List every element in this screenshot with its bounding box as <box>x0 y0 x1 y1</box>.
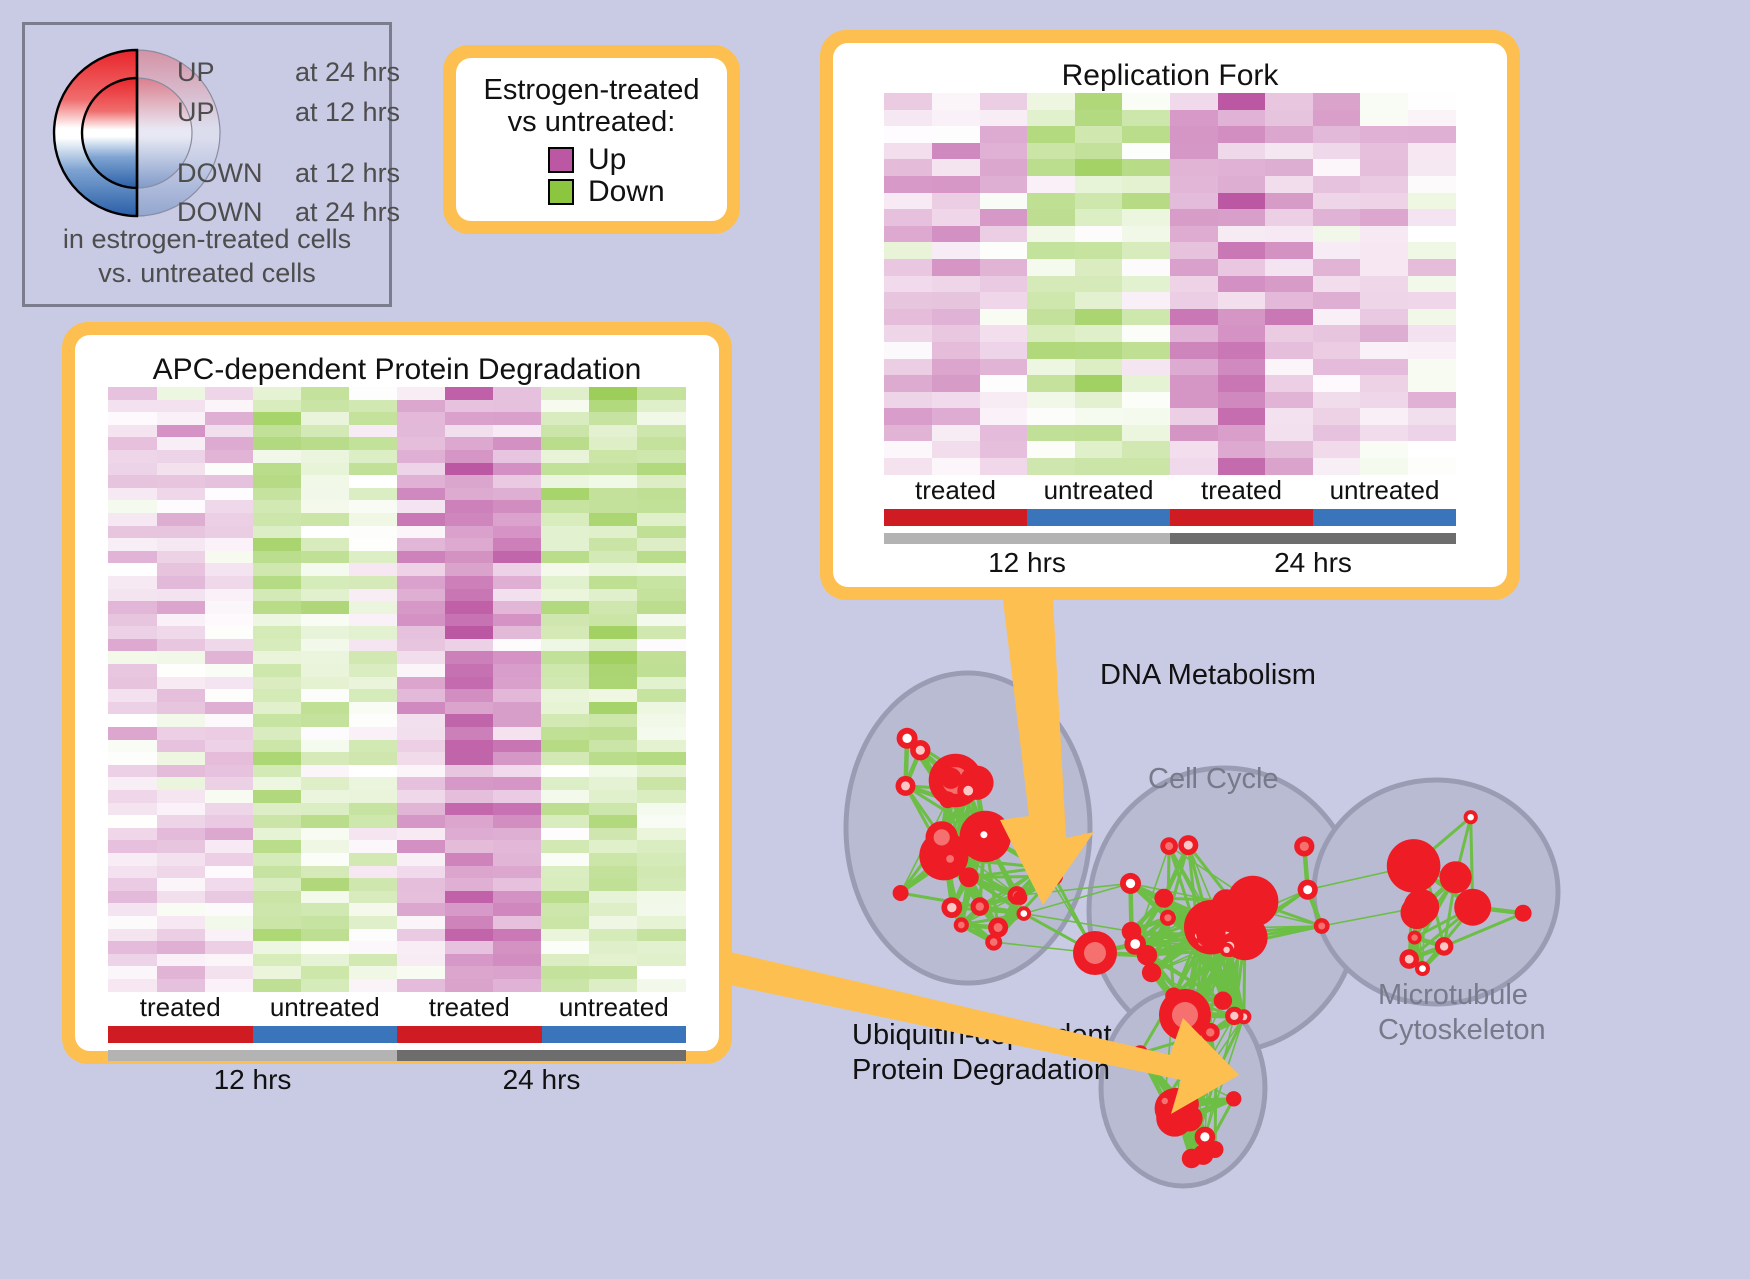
heatmap-cell <box>301 954 349 967</box>
heatmap-cell <box>589 853 637 866</box>
key-time: at 24 hrs <box>295 57 400 87</box>
heatmap-cell <box>1408 441 1456 458</box>
heatmap-cell <box>205 500 253 513</box>
heatmap-cell <box>1218 325 1266 342</box>
heatmap-cell <box>1170 342 1218 359</box>
heatmap-cell <box>541 828 589 841</box>
network-node[interactable] <box>1160 910 1176 926</box>
heatmap-cell <box>884 292 932 309</box>
network-node[interactable] <box>896 776 916 796</box>
heatmap-cell <box>589 538 637 551</box>
heatmap-cell <box>1122 259 1170 276</box>
heatmap-cell <box>205 425 253 438</box>
heatmap-cell <box>205 664 253 677</box>
heatmap-cell <box>1408 193 1456 210</box>
network-node[interactable] <box>1013 891 1027 905</box>
network-node[interactable] <box>1171 1102 1200 1131</box>
heatmap-cell <box>541 966 589 979</box>
network-node[interactable] <box>1298 880 1318 900</box>
heatmap-cell <box>493 979 541 992</box>
heatmap-cell <box>1313 458 1361 475</box>
heatmap-cell <box>349 954 397 967</box>
heatmap-cell <box>541 500 589 513</box>
heatmap-cell <box>589 878 637 891</box>
heatmap-cell <box>205 727 253 740</box>
network-node[interactable] <box>1314 918 1330 934</box>
heatmap-cell <box>493 752 541 765</box>
heatmap-cell <box>884 143 932 160</box>
heatmap-cell <box>253 840 301 853</box>
heatmap-cell <box>1313 126 1361 143</box>
heatmap-cell <box>1170 441 1218 458</box>
network-node[interactable] <box>1408 931 1422 945</box>
heatmap-cell <box>541 551 589 564</box>
heatmap-cell <box>1408 226 1456 243</box>
heatmap-cell <box>1075 93 1123 110</box>
heatmap-cell <box>1360 292 1408 309</box>
heatmap-cell <box>493 903 541 916</box>
heatmap-cell <box>637 979 685 992</box>
heatmap-cell <box>253 651 301 664</box>
heatmap-cell <box>301 815 349 828</box>
heatmap-cell <box>397 437 445 450</box>
network-node[interactable] <box>954 917 969 932</box>
heatmap-cell <box>253 538 301 551</box>
heatmap-cell <box>493 702 541 715</box>
heatmap-cell <box>932 176 980 193</box>
heatmap-cell <box>1265 458 1313 475</box>
heatmap-cell <box>1218 359 1266 376</box>
heatmap-cell <box>445 387 493 400</box>
heatmap-cell <box>397 387 445 400</box>
heatmap-cell <box>108 903 156 916</box>
network-node[interactable] <box>1294 836 1314 856</box>
heatmap-cell <box>1027 359 1075 376</box>
heatmap-cell <box>205 589 253 602</box>
network-node[interactable] <box>1220 943 1234 957</box>
heatmap-cell <box>1313 309 1361 326</box>
heatmap-cell <box>1170 309 1218 326</box>
heatmap-cell <box>884 209 932 226</box>
heatmap-cell <box>980 176 1028 193</box>
heatmap-cell <box>1360 126 1408 143</box>
heatmap-cell <box>349 803 397 816</box>
heatmap-cell <box>637 777 685 790</box>
network-node[interactable] <box>1154 889 1173 908</box>
key-direction: UP <box>177 97 295 128</box>
heatmap-cell <box>205 689 253 702</box>
network-node[interactable] <box>1073 931 1117 975</box>
key-footer-line1: in estrogen-treated cells <box>25 223 389 257</box>
heatmap-cell <box>541 614 589 627</box>
heatmap-cell <box>493 589 541 602</box>
legend-label-up: Up <box>588 145 626 175</box>
legend-title: Estrogen-treated vs untreated: <box>470 74 713 139</box>
heatmap-cell <box>157 866 205 879</box>
heatmap-cell <box>493 425 541 438</box>
network-node[interactable] <box>1120 873 1141 894</box>
heatmap-cell <box>108 702 156 715</box>
heatmap-cell <box>1265 259 1313 276</box>
heatmap-cell <box>637 815 685 828</box>
heatmap-cell <box>1218 375 1266 392</box>
network-node[interactable] <box>1226 1091 1241 1106</box>
heatmap-cell <box>397 853 445 866</box>
heatmap-cell <box>1170 392 1218 409</box>
heatmap-cell <box>349 891 397 904</box>
heatmap-cell <box>589 526 637 539</box>
heatmap-cell <box>1122 209 1170 226</box>
time-label-24hrs: 24 hrs <box>1170 547 1456 579</box>
heatmap-cell <box>1027 193 1075 210</box>
heatmap-cell <box>493 727 541 740</box>
heatmap-cell <box>589 979 637 992</box>
heatmap-cell <box>541 412 589 425</box>
heatmap-cell <box>301 576 349 589</box>
heatmap-cell <box>253 790 301 803</box>
condition-label: treated <box>108 992 253 1023</box>
heatmap-cell <box>1360 259 1408 276</box>
heatmap-cell <box>108 437 156 450</box>
heatmap-cell <box>253 853 301 866</box>
heatmap-cell <box>1027 126 1075 143</box>
heatmap-cell <box>253 903 301 916</box>
network-node[interactable] <box>988 918 1008 938</box>
network-node[interactable] <box>1214 992 1232 1010</box>
heatmap-cell <box>108 400 156 413</box>
heatmap-cell <box>1075 242 1123 259</box>
heatmap-cell <box>932 259 980 276</box>
network-node[interactable] <box>959 867 979 887</box>
heatmap-cell <box>253 589 301 602</box>
heatmap-cell <box>397 651 445 664</box>
heatmap-cell <box>205 563 253 576</box>
heatmap-cell <box>493 412 541 425</box>
heatmap-cell <box>1360 425 1408 442</box>
heatmap-cell <box>1170 408 1218 425</box>
panel-title-apc: APC-dependent Protein Degradation <box>75 353 719 387</box>
heatmap-cell <box>1075 441 1123 458</box>
heatmap-cell <box>637 387 685 400</box>
heatmap-cell <box>1027 458 1075 475</box>
heatmap-cell <box>493 639 541 652</box>
heatmap-cell <box>445 614 493 627</box>
heatmap-cell <box>108 500 156 513</box>
network-node[interactable] <box>1045 868 1063 886</box>
heatmap-cell <box>301 803 349 816</box>
heatmap-cell <box>980 441 1028 458</box>
key-time: at 12 hrs <box>295 158 400 188</box>
network-node[interactable] <box>941 897 962 918</box>
heatmap-cell <box>397 714 445 727</box>
heatmap-cell <box>884 342 932 359</box>
network-node[interactable] <box>971 897 990 916</box>
heatmap-cell <box>1360 242 1408 259</box>
heatmap-apc-protein-degradation <box>108 387 685 992</box>
heatmap-cell <box>253 727 301 740</box>
heatmap-cell <box>349 400 397 413</box>
heatmap-cell <box>980 143 1028 160</box>
heatmap-cell <box>1075 176 1123 193</box>
heatmap-cell <box>157 488 205 501</box>
heatmap-cell <box>884 359 932 376</box>
heatmap-cell <box>157 740 205 753</box>
network-node[interactable] <box>1132 1045 1148 1061</box>
heatmap-cell <box>1408 425 1456 442</box>
heatmap-cell <box>349 614 397 627</box>
heatmap-cell <box>541 475 589 488</box>
network-node[interactable] <box>1195 1127 1216 1148</box>
network-node[interactable] <box>1454 889 1491 926</box>
heatmap-cell <box>349 513 397 526</box>
network-node[interactable] <box>1017 906 1032 921</box>
heatmap-cell <box>589 677 637 690</box>
heatmap-cell <box>637 840 685 853</box>
heatmap-cell <box>205 702 253 715</box>
heatmap-cell <box>108 513 156 526</box>
heatmap-cell <box>301 400 349 413</box>
heatmap-cell <box>884 408 932 425</box>
condition-swatch-untreated <box>542 1026 687 1043</box>
heatmap-cell <box>205 437 253 450</box>
heatmap-cell <box>397 475 445 488</box>
heatmap-cell <box>932 110 980 127</box>
heatmap-cell <box>541 878 589 891</box>
heatmap-cell <box>884 226 932 243</box>
heatmap-cell <box>541 702 589 715</box>
network-node[interactable] <box>940 768 961 789</box>
network-node[interactable] <box>1196 919 1226 949</box>
network-node[interactable] <box>957 780 979 802</box>
heatmap-cell <box>1170 176 1218 193</box>
heatmap-cell <box>301 475 349 488</box>
heatmap-cell <box>1122 159 1170 176</box>
heatmap-cell <box>1170 126 1218 143</box>
heatmap-cell <box>108 664 156 677</box>
heatmap-cell <box>637 450 685 463</box>
heatmap-cell <box>1075 458 1123 475</box>
heatmap-cell <box>1218 110 1266 127</box>
heatmap-cell <box>541 425 589 438</box>
time-label-12hrs: 12 hrs <box>884 547 1170 579</box>
heatmap-cell <box>1360 392 1408 409</box>
heatmap-cell <box>1027 143 1075 160</box>
heatmap-cell <box>637 765 685 778</box>
heatmap-cell <box>205 853 253 866</box>
heatmap-cell <box>1360 276 1408 293</box>
network-node[interactable] <box>1124 933 1146 955</box>
heatmap-cell <box>108 727 156 740</box>
heatmap-cell <box>1027 110 1075 127</box>
heatmap-cell <box>493 538 541 551</box>
heatmap-cell <box>637 891 685 904</box>
network-node[interactable] <box>897 728 918 749</box>
heatmap-cell <box>1122 276 1170 293</box>
heatmap-cell <box>493 878 541 891</box>
key-direction: UP <box>177 57 295 88</box>
heatmap-cell <box>541 387 589 400</box>
down-swatch-icon <box>548 179 574 205</box>
network-node[interactable] <box>1182 1149 1201 1168</box>
heatmap-cell <box>1027 176 1075 193</box>
heatmap-cell <box>397 576 445 589</box>
condition-color-bar-rf <box>884 509 1456 526</box>
heatmap-cell <box>1218 93 1266 110</box>
heatmap-cell <box>589 929 637 942</box>
pathway-network-diagram: DNA Metabolism Cell Cycle Microtubule Cy… <box>790 620 1750 1279</box>
heatmap-cell <box>349 463 397 476</box>
heatmap-cell <box>589 437 637 450</box>
heatmap-cell <box>493 614 541 627</box>
heatmap-cell <box>253 941 301 954</box>
heatmap-cell <box>884 392 932 409</box>
heatmap-cell <box>349 551 397 564</box>
network-node[interactable] <box>1159 989 1211 1041</box>
heatmap-cell <box>301 929 349 942</box>
color-key-box: UPat 24 hrs UPat 12 hrs DOWNat 12 hrs DO… <box>22 22 392 307</box>
heatmap-cell <box>445 400 493 413</box>
heatmap-cell <box>1170 226 1218 243</box>
heatmap-cell <box>301 563 349 576</box>
heatmap-cell <box>1408 93 1456 110</box>
heatmap-cell <box>108 777 156 790</box>
heatmap-cell <box>493 740 541 753</box>
heatmap-cell <box>541 866 589 879</box>
heatmap-cell <box>589 551 637 564</box>
heatmap-cell <box>445 601 493 614</box>
heatmap-cell <box>541 664 589 677</box>
heatmap-cell <box>637 463 685 476</box>
heatmap-cell <box>932 276 980 293</box>
heatmap-cell <box>1027 392 1075 409</box>
network-node[interactable] <box>1440 861 1472 893</box>
heatmap-cell <box>1265 292 1313 309</box>
heatmap-cell <box>589 425 637 438</box>
heatmap-cell <box>397 979 445 992</box>
heatmap-cell <box>1027 209 1075 226</box>
network-node[interactable] <box>1416 863 1437 884</box>
heatmap-cell <box>637 790 685 803</box>
heatmap-cell <box>301 526 349 539</box>
heatmap-cell <box>205 714 253 727</box>
heatmap-cell <box>397 803 445 816</box>
heatmap-cell <box>397 538 445 551</box>
heatmap-cell <box>397 589 445 602</box>
heatmap-cell <box>637 626 685 639</box>
heatmap-cell <box>349 639 397 652</box>
heatmap-cell <box>1075 392 1123 409</box>
heatmap-cell <box>1075 425 1123 442</box>
heatmap-cell <box>637 538 685 551</box>
heatmap-cell <box>253 677 301 690</box>
condition-swatch-treated <box>397 1026 542 1043</box>
heatmap-cell <box>1408 209 1456 226</box>
heatmap-cell <box>108 614 156 627</box>
heatmap-cell <box>349 576 397 589</box>
network-node[interactable] <box>1160 837 1178 855</box>
heatmap-cell <box>349 916 397 929</box>
heatmap-cell <box>541 954 589 967</box>
heatmap-cell <box>1313 441 1361 458</box>
network-node[interactable] <box>976 827 992 843</box>
heatmap-cell <box>157 916 205 929</box>
heatmap-cell <box>493 689 541 702</box>
network-node[interactable] <box>1208 1067 1223 1082</box>
network-node[interactable] <box>893 885 909 901</box>
network-node[interactable] <box>1464 810 1478 824</box>
heatmap-cell <box>349 840 397 853</box>
network-node[interactable] <box>926 821 958 853</box>
heatmap-cell <box>1075 126 1123 143</box>
network-node[interactable] <box>1404 889 1440 925</box>
heatmap-cell <box>541 903 589 916</box>
heatmap-cell <box>301 387 349 400</box>
heatmap-cell <box>637 677 685 690</box>
network-node[interactable] <box>1435 937 1454 956</box>
network-node[interactable] <box>1225 1007 1243 1025</box>
heatmap-cell <box>1265 342 1313 359</box>
heatmap-cell <box>541 463 589 476</box>
heatmap-cell <box>1360 309 1408 326</box>
heatmap-cell <box>1027 375 1075 392</box>
heatmap-cell <box>980 209 1028 226</box>
network-node[interactable] <box>1178 835 1198 855</box>
heatmap-cell <box>157 551 205 564</box>
heatmap-cell <box>932 309 980 326</box>
heatmap-cell <box>493 866 541 879</box>
replication-fork-panel: Replication Fork treated untreated treat… <box>820 30 1520 600</box>
heatmap-cell <box>1075 259 1123 276</box>
network-node[interactable] <box>1415 961 1430 976</box>
heatmap-cell <box>932 209 980 226</box>
heatmap-cell <box>349 853 397 866</box>
heatmap-cell <box>932 93 980 110</box>
heatmap-cell <box>493 891 541 904</box>
heatmap-cell <box>589 790 637 803</box>
network-node[interactable] <box>941 850 959 868</box>
network-node[interactable] <box>939 791 956 808</box>
heatmap-cell <box>541 576 589 589</box>
heatmap-cell <box>205 601 253 614</box>
heatmap-cell <box>1075 342 1123 359</box>
heatmap-cell <box>445 702 493 715</box>
heatmap-cell <box>589 866 637 879</box>
heatmap-cell <box>1027 159 1075 176</box>
network-node[interactable] <box>1142 963 1161 982</box>
heatmap-cell <box>301 425 349 438</box>
heatmap-cell <box>253 689 301 702</box>
heatmap-cell <box>301 840 349 853</box>
heatmap-cell <box>397 840 445 853</box>
time-label-12hrs: 12 hrs <box>108 1064 397 1096</box>
cluster-ellipse-microtubule <box>1314 780 1558 1004</box>
network-node[interactable] <box>1231 904 1260 933</box>
heatmap-cell <box>637 475 685 488</box>
heatmap-cell <box>301 551 349 564</box>
time-swatch-24hrs <box>397 1050 686 1061</box>
heatmap-cell <box>884 441 932 458</box>
heatmap-cell <box>108 752 156 765</box>
heatmap-cell <box>637 903 685 916</box>
heatmap-cell <box>253 387 301 400</box>
network-node[interactable] <box>1515 905 1532 922</box>
heatmap-cell <box>589 463 637 476</box>
heatmap-cell <box>589 576 637 589</box>
heatmap-cell <box>157 727 205 740</box>
network-node[interactable] <box>1158 1094 1172 1108</box>
heatmap-cell <box>445 929 493 942</box>
heatmap-cell <box>1408 458 1456 475</box>
